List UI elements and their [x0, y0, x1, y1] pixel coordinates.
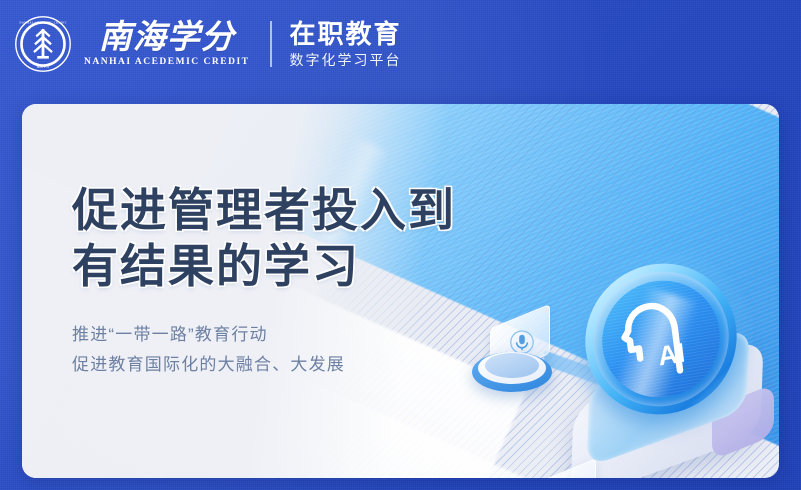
microphone-pad-top [485, 353, 539, 378]
subtitle-line-1: 推进“一带一路”教育行动 [72, 320, 456, 350]
headline-line-2: 有结果的学习 [72, 238, 456, 294]
hero-subtitle: 推进“一带一路”教育行动 促进教育国际化的大融合、大发展 [72, 320, 456, 380]
banner-page: NANHAI ACEDEMIC CREDIT 南海学分 南海学分 NANHAI … [0, 0, 801, 490]
tagline-sub: 数字化学习平台 [290, 50, 402, 70]
person-node-card [538, 458, 596, 478]
brand-lockup[interactable]: NANHAI ACEDEMIC CREDIT 南海学分 南海学分 NANHAI … [14, 15, 402, 73]
svg-text:南海学分: 南海学分 [37, 64, 51, 69]
ai-coin: AI [577, 253, 746, 426]
subtitle-line-2: 促进教育国际化的大融合、大发展 [72, 350, 456, 380]
svg-text:NANHAI ACEDEMIC CREDIT: NANHAI ACEDEMIC CREDIT [19, 21, 67, 25]
brand-name-cn: 南海学分 [99, 20, 235, 54]
tagline-main: 在职教育 [290, 19, 402, 49]
hero-banner-card[interactable]: AI [22, 104, 779, 478]
brand-name-block: 南海学分 NANHAI ACEDEMIC CREDIT [84, 20, 250, 68]
brand-divider [270, 21, 272, 67]
university-crest-tree-emblem-icon: NANHAI ACEDEMIC CREDIT 南海学分 [14, 15, 72, 73]
brand-name-en: NANHAI ACEDEMIC CREDIT [84, 56, 250, 68]
hero-copy: 促进管理者投入到 有结果的学习 推进“一带一路”教育行动 促进教育国际化的大融合… [72, 182, 456, 380]
site-header: NANHAI ACEDEMIC CREDIT 南海学分 南海学分 NANHAI … [0, 0, 801, 88]
tagline-block: 在职教育 数字化学习平台 [290, 19, 402, 70]
headline-line-1: 促进管理者投入到 [72, 182, 456, 238]
